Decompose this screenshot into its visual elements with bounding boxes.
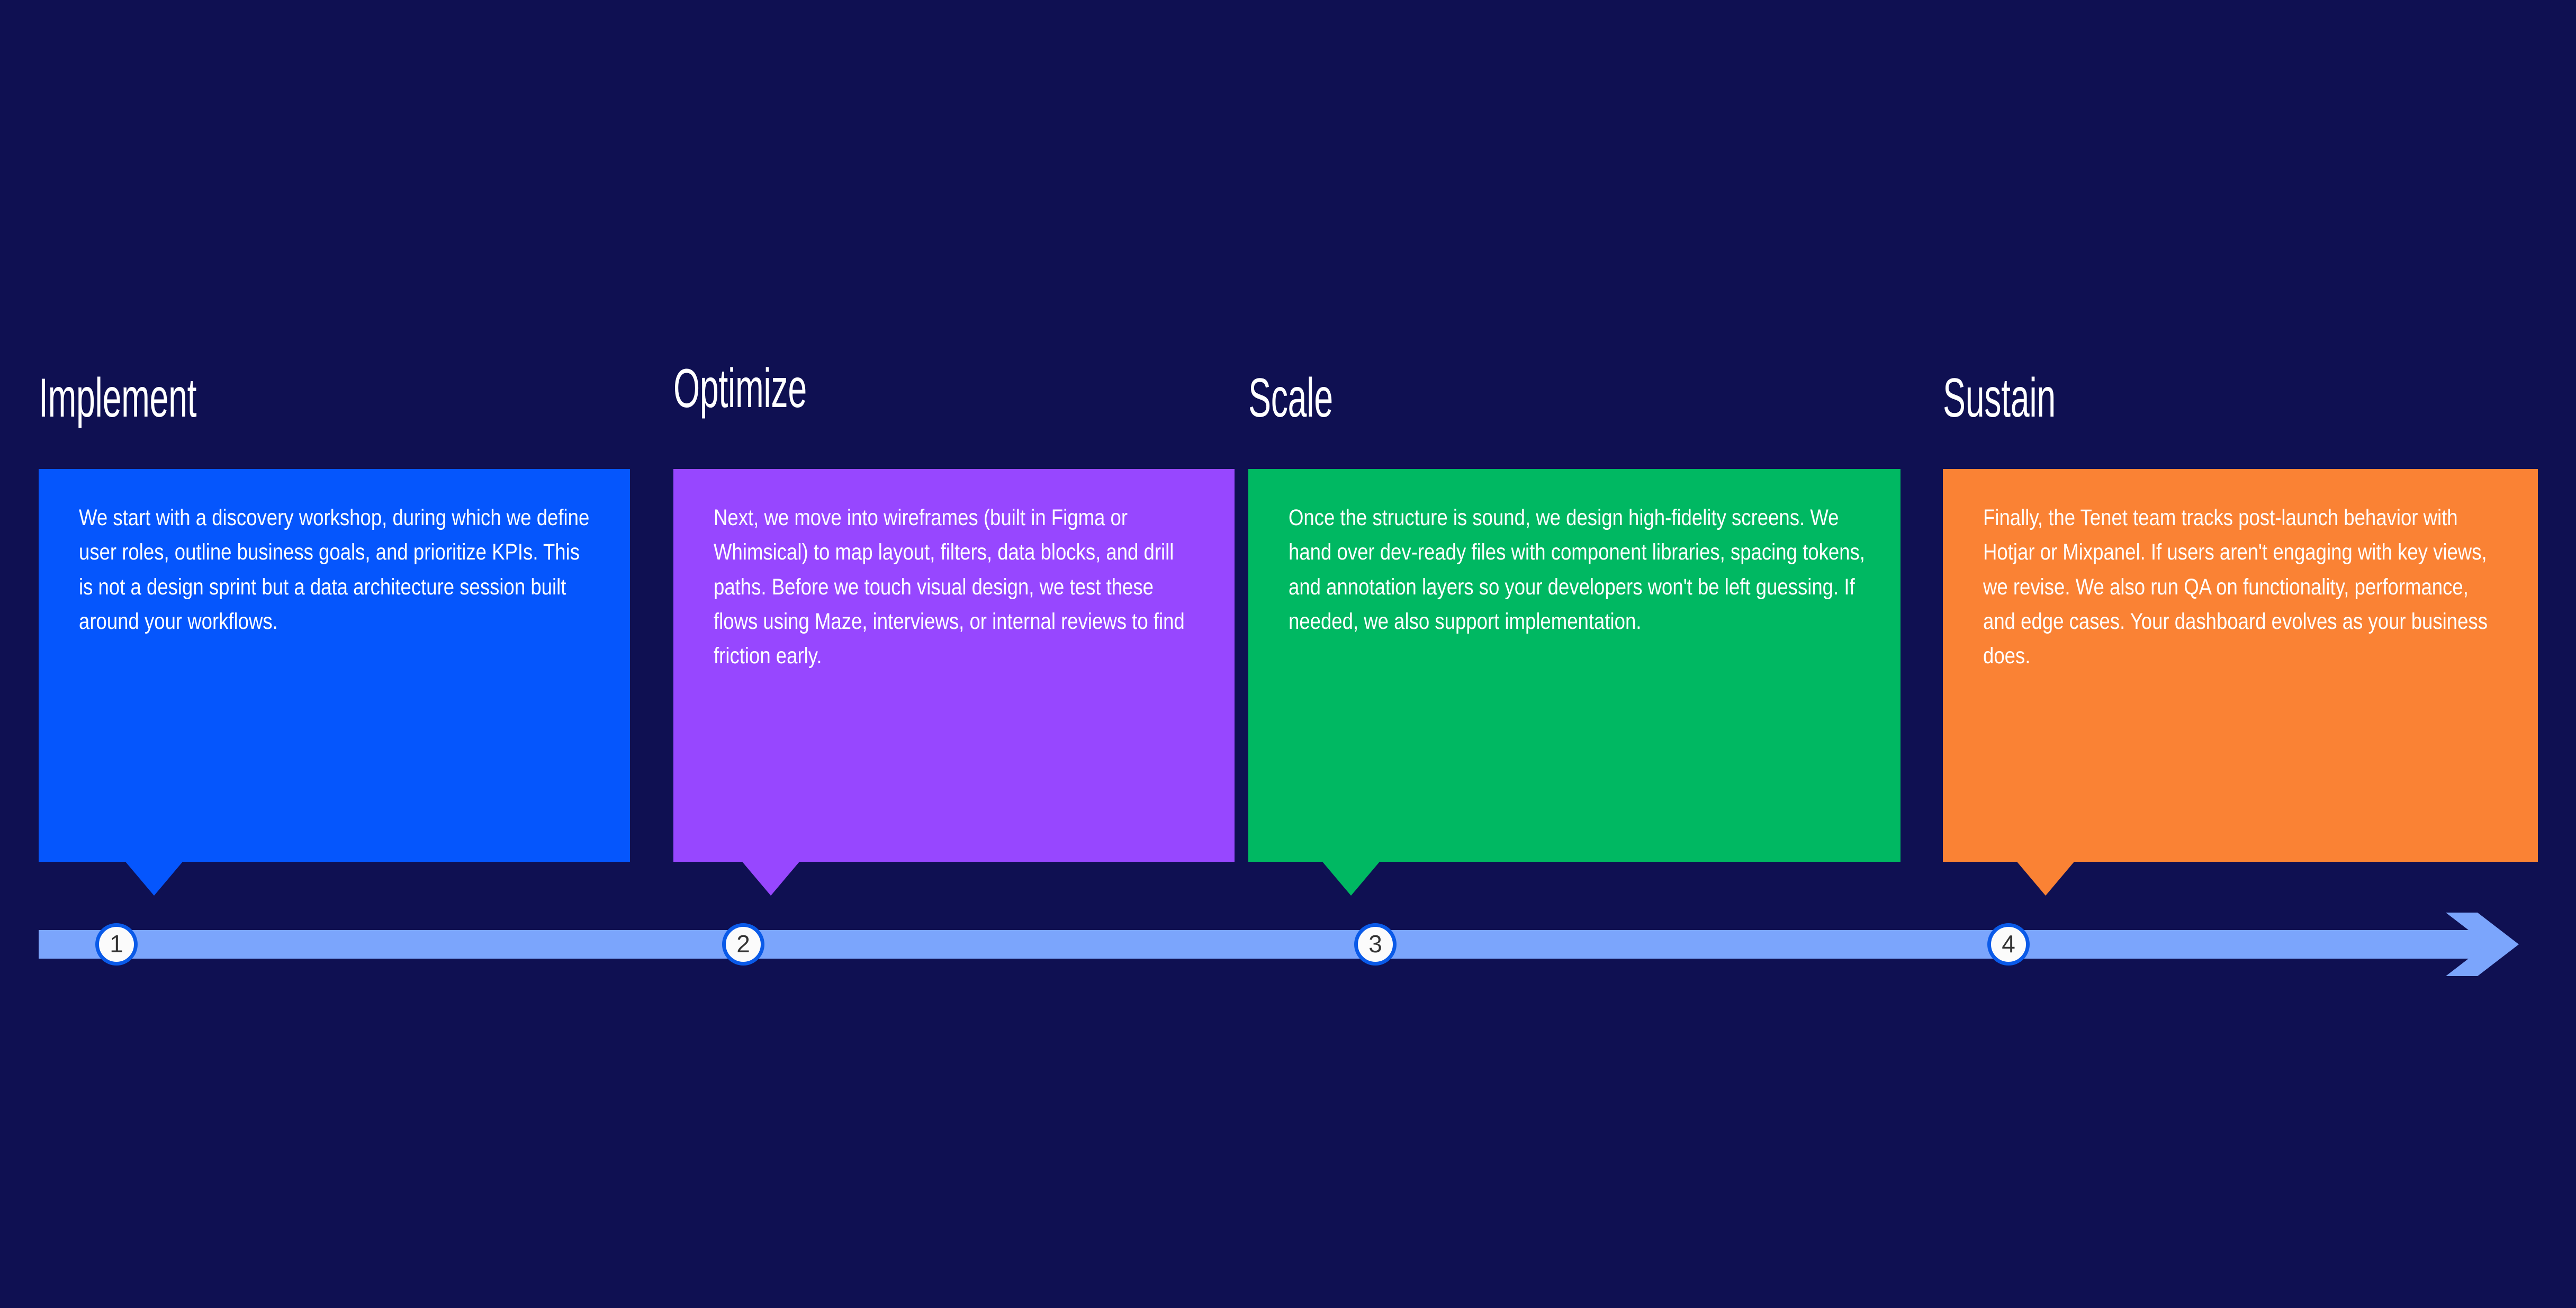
process-step-2: Optimize Next, we move into wireframes (…: [673, 0, 1235, 1308]
step-card-body-1: We start with a discovery workshop, duri…: [79, 501, 597, 639]
step-card-tail-3: [1322, 862, 1380, 896]
step-heading-3: Scale: [1248, 371, 1333, 426]
process-step-3: Scale Once the structure is sound, we de…: [1248, 0, 1901, 1308]
process-step-4: Sustain Finally, the Tenet team tracks p…: [1943, 0, 2538, 1308]
step-card-tail-1: [125, 862, 183, 896]
step-card-tail-4: [2017, 862, 2074, 896]
step-card-tail-2: [742, 862, 799, 896]
step-card-body-4: Finally, the Tenet team tracks post-laun…: [1983, 501, 2505, 674]
step-heading-2: Optimize: [673, 361, 807, 416]
step-card-body-2: Next, we move into wireframes (built in …: [714, 501, 1202, 674]
step-heading-1: Implement: [39, 371, 196, 426]
step-card-body-3: Once the structure is sound, we design h…: [1289, 501, 1868, 639]
step-card-2[interactable]: Next, we move into wireframes (built in …: [673, 469, 1235, 862]
step-card-4[interactable]: Finally, the Tenet team tracks post-laun…: [1943, 469, 2538, 862]
step-card-1[interactable]: We start with a discovery workshop, duri…: [39, 469, 630, 862]
step-heading-4: Sustain: [1943, 371, 2056, 426]
process-step-1: Implement We start with a discovery work…: [39, 0, 630, 1308]
step-card-3[interactable]: Once the structure is sound, we design h…: [1248, 469, 1901, 862]
process-timeline-infographic: Implement We start with a discovery work…: [0, 0, 2576, 1308]
